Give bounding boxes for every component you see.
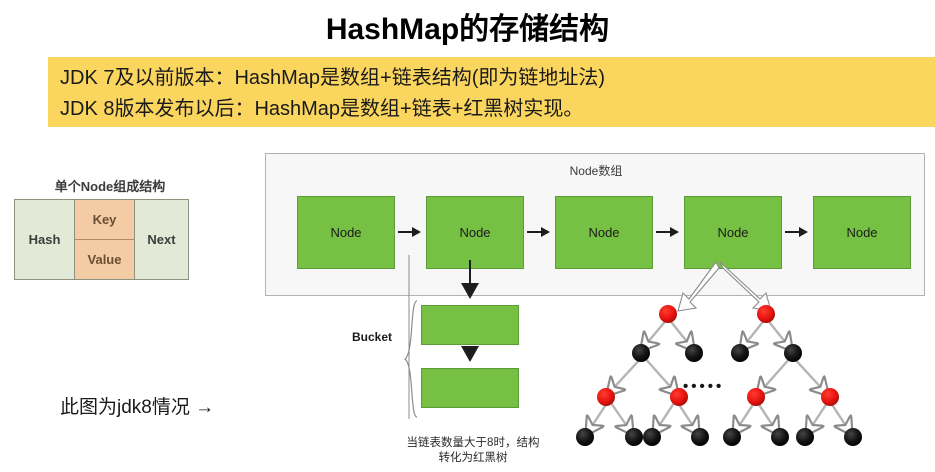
tree-node-red [597, 388, 615, 406]
node-structure-diagram: Hash Key Value Next [14, 199, 189, 280]
tree-node-black [784, 344, 802, 362]
tree-node-black [576, 428, 594, 446]
tree-node-black [625, 428, 643, 446]
node-hash-cell: Hash [15, 200, 75, 279]
jdk8-note: 此图为jdk8情况 → [60, 392, 214, 419]
array-cell-3[interactable]: Node [684, 196, 782, 269]
tree-node-black [844, 428, 862, 446]
tree-node-black [731, 344, 749, 362]
tree-ellipsis: ••••• [683, 378, 724, 395]
tree-node-black [632, 344, 650, 362]
bucket-box-0[interactable] [421, 305, 519, 345]
array-link-arrow-0 [398, 226, 422, 238]
array-cell-1[interactable]: Node [426, 196, 524, 269]
node-structure-caption: 单个Node组成结构 [30, 176, 190, 195]
tree-node-red [659, 305, 677, 323]
bucket-label: Bucket [352, 330, 392, 344]
left-red-black-tree [576, 305, 709, 446]
bucket-box-1[interactable] [421, 368, 519, 408]
tree-node-red [757, 305, 775, 323]
node-keyvalue-group: Key Value [75, 200, 135, 279]
node-array-label: Node数组 [266, 162, 926, 179]
array-cell-4[interactable]: Node [813, 196, 911, 269]
banner-line-jdk7: JDK 7及以前版本：HashMap是数组+链表结构(即为链地址法) [60, 63, 935, 94]
array-cell-0[interactable]: Node [297, 196, 395, 269]
bucket-caption-line-1: 当链表数量大于8时，结构 [375, 436, 571, 451]
tree-node-red [821, 388, 839, 406]
info-banner: JDK 7及以前版本：HashMap是数组+链表结构(即为链地址法) JDK 8… [48, 57, 935, 127]
tree-node-black [643, 428, 661, 446]
bucket-brace [404, 300, 418, 418]
tree-node-black [723, 428, 741, 446]
node-next-cell: Next [135, 200, 188, 279]
tree-node-black [691, 428, 709, 446]
node-key-cell: Key [75, 200, 134, 240]
array-link-arrow-3 [785, 226, 809, 238]
bucket-caption: 当链表数量大于8时，结构 转化为红黑树 [375, 436, 571, 466]
array-cell-2[interactable]: Node [555, 196, 653, 269]
bucket-caption-line-2: 转化为红黑树 [375, 451, 571, 466]
array-link-arrow-2 [656, 226, 680, 238]
tree-node-black [796, 428, 814, 446]
node-value-cell: Value [75, 240, 134, 279]
right-red-black-tree [723, 305, 862, 446]
tree-node-red [747, 388, 765, 406]
node-array-panel: Node数组 Node Node Node Node Node [265, 153, 925, 296]
banner-line-jdk8: JDK 8版本发布以后：HashMap是数组+链表+红黑树实现。 [60, 94, 935, 125]
tree-node-black [771, 428, 789, 446]
tree-node-black [685, 344, 703, 362]
array-link-arrow-1 [527, 226, 551, 238]
page-title: HashMap的存储结构 [0, 4, 935, 48]
